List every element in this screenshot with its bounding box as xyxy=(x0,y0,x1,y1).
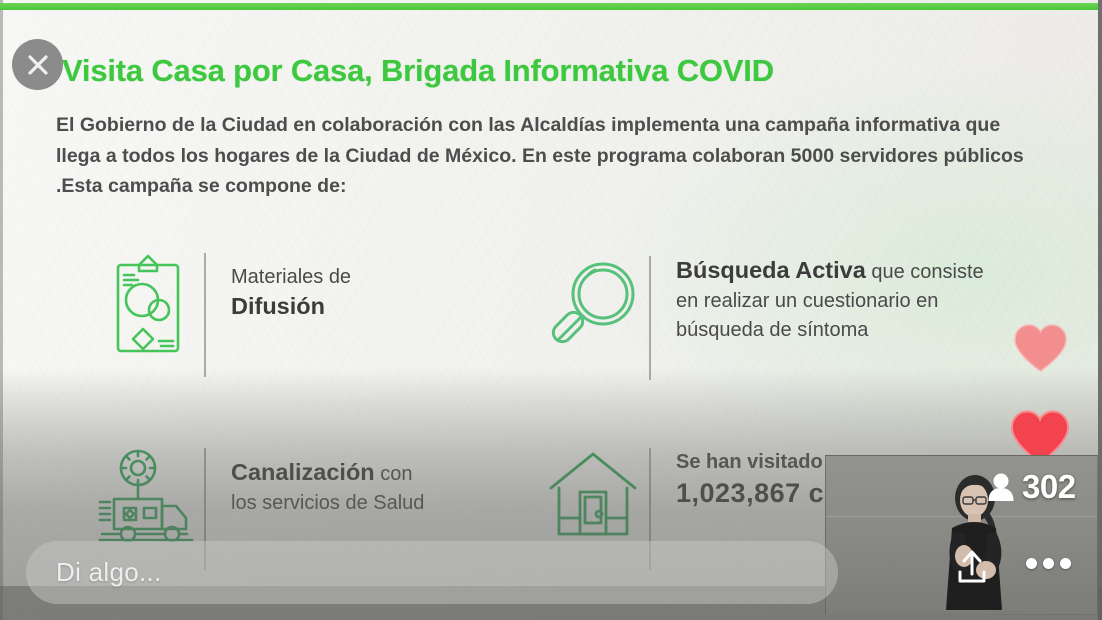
feature-text: Materiales de Difusión xyxy=(206,253,351,321)
more-options-icon xyxy=(1060,558,1071,569)
more-options-icon xyxy=(1043,558,1054,569)
house-home-icon xyxy=(537,448,649,544)
close-button[interactable] xyxy=(12,39,63,90)
feature-line-3: búsqueda de síntoma xyxy=(676,316,984,345)
slide-top-green-bar xyxy=(0,3,1102,10)
viewer-count: 302 xyxy=(987,470,1076,503)
feature-text: Se han visitado 1,023,867 c xyxy=(651,448,824,508)
feature-text: Búsqueda Activa que consiste en realizar… xyxy=(651,256,984,345)
feature-strong-label: Canalización xyxy=(231,459,375,485)
livestream-screen: Visita Casa por Casa, Brigada Informativ… xyxy=(0,0,1102,620)
viewer-count-label: 302 xyxy=(1022,470,1076,503)
feature-strong-label: Búsqueda Activa xyxy=(676,257,866,283)
feature-line-1: Canalización con xyxy=(231,458,424,489)
feature-line-1-rest: con xyxy=(375,463,413,485)
clipboard-document-icon xyxy=(92,253,204,357)
share-upload-icon xyxy=(954,548,990,586)
feature-line-1: Materiales de xyxy=(231,263,351,292)
visited-count: 1,023,867 c xyxy=(676,479,824,508)
slide-right-edge xyxy=(1098,0,1102,620)
feature-text: Canalización con los servicios de Salud xyxy=(206,448,424,518)
feature-line-2: los servicios de Salud xyxy=(231,489,424,518)
comment-input[interactable]: Di algo... xyxy=(26,541,838,604)
person-icon xyxy=(987,472,1015,502)
slide-intro-paragraph: El Gobierno de la Ciudad en colaboración… xyxy=(56,110,1036,202)
comment-input-placeholder: Di algo... xyxy=(56,557,162,588)
feature-materiales-difusion: Materiales de Difusión xyxy=(92,253,351,383)
share-button[interactable] xyxy=(950,545,994,589)
more-options-button[interactable] xyxy=(1026,558,1071,569)
slide-headline: Visita Casa por Casa, Brigada Informativ… xyxy=(62,53,774,89)
visited-label: Se han visitado xyxy=(676,448,824,477)
more-options-icon xyxy=(1026,558,1037,569)
slide-left-edge xyxy=(0,0,3,620)
close-x-icon xyxy=(25,52,51,78)
ambulance-health-icon xyxy=(92,448,204,552)
magnifier-search-icon xyxy=(537,256,649,360)
feature-line-2: Difusión xyxy=(231,292,351,321)
feature-line-1: Búsqueda Activa que consiste xyxy=(676,256,984,287)
feature-line-2: en realizar un cuestionario en xyxy=(676,287,984,316)
feature-busqueda-activa: Búsqueda Activa que consiste en realizar… xyxy=(537,256,984,386)
feature-line-1-rest: que consiste xyxy=(866,261,984,283)
